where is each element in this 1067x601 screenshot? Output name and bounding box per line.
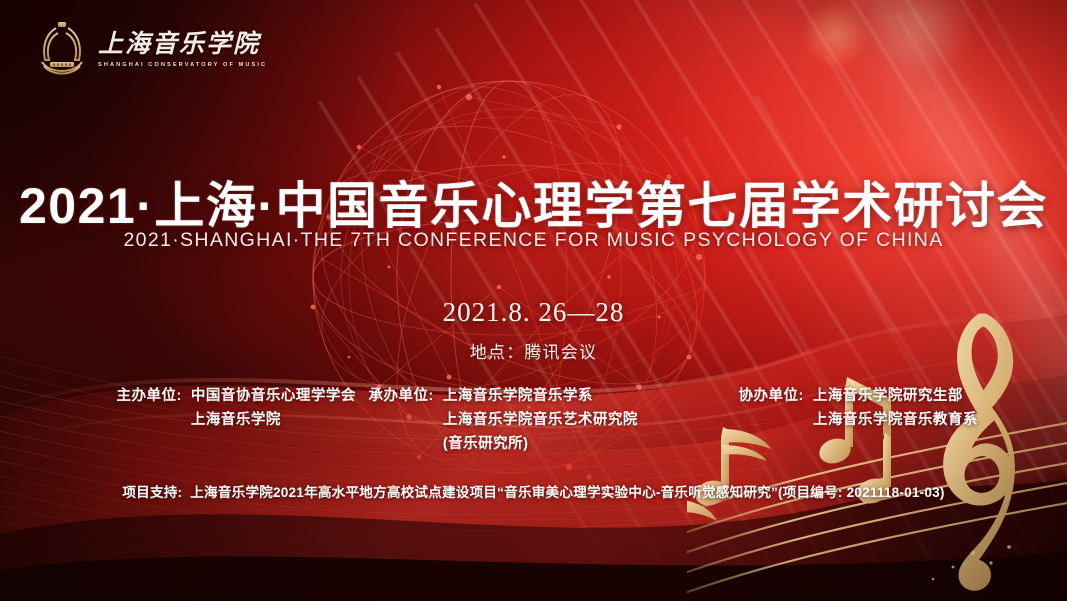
organizer-undertaker-line: 上海音乐学院音乐艺术研究院 [443, 408, 638, 432]
organizer-coorganizer-line: 上海音乐学院音乐教育系 [813, 408, 978, 432]
organizers-section: 主办单位: 中国音协音乐心理学学会 上海音乐学院 承办单位: 上海音乐学院音乐学… [0, 384, 1067, 456]
organizer-host-line: 上海音乐学院 [191, 408, 356, 432]
page-title: 2021·上海·中国音乐心理学第七届学术研讨会 [0, 166, 1067, 238]
organizer-undertaker: 承办单位: 上海音乐学院音乐学系 上海音乐学院音乐艺术研究院 (音乐研究所) [359, 384, 709, 456]
organizer-host: 主办单位: 中国音协音乐心理学学会 上海音乐学院 [29, 384, 359, 432]
project-support: 项目支持:上海音乐学院2021年高水平地方高校试点建设项目“音乐审美心理学实验中… [0, 481, 1067, 501]
organizer-coorganizer: 协办单位: 上海音乐学院研究生部 上海音乐学院音乐教育系 [709, 384, 1039, 432]
lyre-shield-emblem-icon [36, 20, 88, 80]
conference-venue: 地点：腾讯会议 [0, 338, 1067, 363]
organizer-host-line: 中国音协音乐心理学学会 [191, 384, 356, 408]
organizer-undertaker-label: 承办单位: [369, 384, 434, 408]
organizer-coorganizer-label: 协办单位: [739, 384, 804, 408]
conference-poster: 上海音乐学院 SHANGHAI CONSERVATORY OF MUSIC 20… [0, 0, 1067, 601]
logo-english-name: SHANGHAI CONSERVATORY OF MUSIC [98, 62, 267, 68]
page-subtitle: 2021·SHANGHAI·THE 7TH CONFERENCE FOR MUS… [0, 229, 1067, 252]
organizer-host-label: 主办单位: [117, 384, 182, 408]
project-support-text: 上海音乐学院2021年高水平地方高校试点建设项目“音乐审美心理学实验中心-音乐听… [190, 485, 944, 500]
conservatory-logo: 上海音乐学院 SHANGHAI CONSERVATORY OF MUSIC [36, 20, 267, 80]
project-support-label: 项目支持: [122, 485, 182, 500]
poster-content: 2021·上海·中国音乐心理学第七届学术研讨会 2021·SHANGHAI·TH… [0, 0, 1067, 601]
organizer-coorganizer-line: 上海音乐学院研究生部 [813, 384, 978, 408]
organizer-undertaker-line: (音乐研究所) [443, 432, 638, 456]
organizer-undertaker-line: 上海音乐学院音乐学系 [443, 384, 638, 408]
logo-chinese-name: 上海音乐学院 [98, 32, 267, 59]
conference-date: 2021.8. 26—28 [0, 297, 1067, 328]
